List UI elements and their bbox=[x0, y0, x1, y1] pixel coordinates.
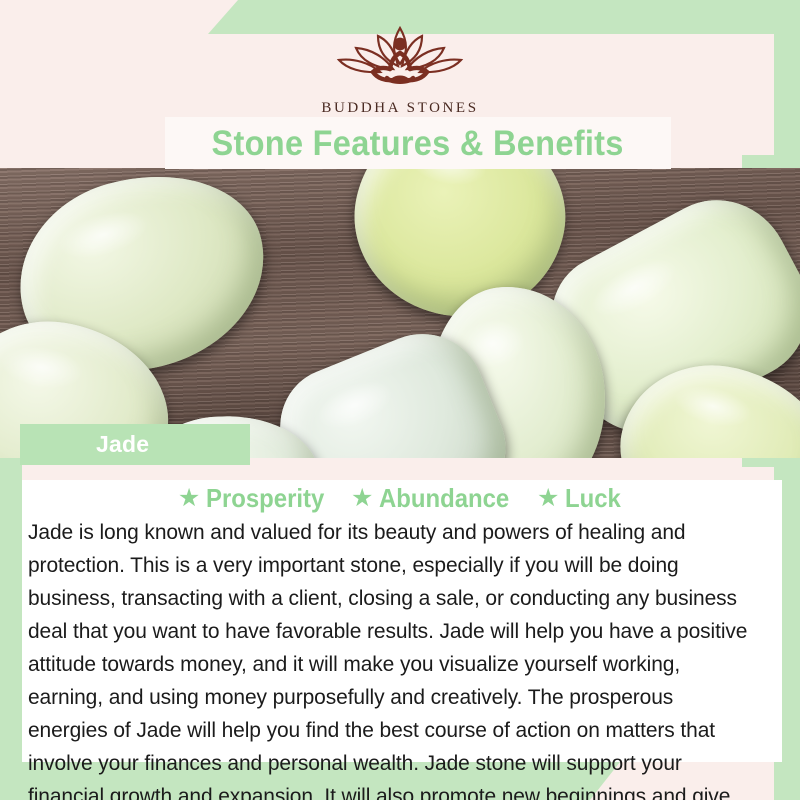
benefit-label: Abundance bbox=[379, 483, 509, 514]
stone-description: Jade is long known and valued for its be… bbox=[28, 516, 757, 800]
brand-wordmark: BUDDHA STONES bbox=[0, 100, 800, 117]
benefit-label: Prosperity bbox=[206, 483, 324, 514]
stone-features-poster: BUDDHA STONES Stone Features & Benefits … bbox=[0, 0, 800, 800]
lotus-meditation-figure-icon bbox=[325, 22, 475, 94]
left-text-accent-band bbox=[0, 454, 22, 800]
benefit-item: ★ Luck bbox=[537, 483, 626, 514]
page-title: Stone Features & Benefits bbox=[212, 126, 624, 161]
benefit-label: Luck bbox=[565, 483, 621, 514]
star-icon: ★ bbox=[537, 486, 559, 511]
page-title-panel: Stone Features & Benefits bbox=[165, 117, 671, 169]
star-icon: ★ bbox=[178, 486, 200, 511]
star-icon: ★ bbox=[351, 486, 373, 511]
stone-name-label: Jade bbox=[96, 431, 149, 458]
content-panel: ★ Prosperity ★ Abundance ★ Luck Jade is … bbox=[22, 480, 782, 762]
benefit-item: ★ Abundance bbox=[351, 483, 521, 514]
jade-stones-photo bbox=[0, 168, 800, 458]
brand-logo: BUDDHA STONES bbox=[0, 22, 800, 117]
stone-name-chip: Jade bbox=[20, 424, 250, 465]
benefit-item: ★ Prosperity bbox=[178, 483, 335, 514]
benefits-row: ★ Prosperity ★ Abundance ★ Luck bbox=[22, 482, 782, 514]
